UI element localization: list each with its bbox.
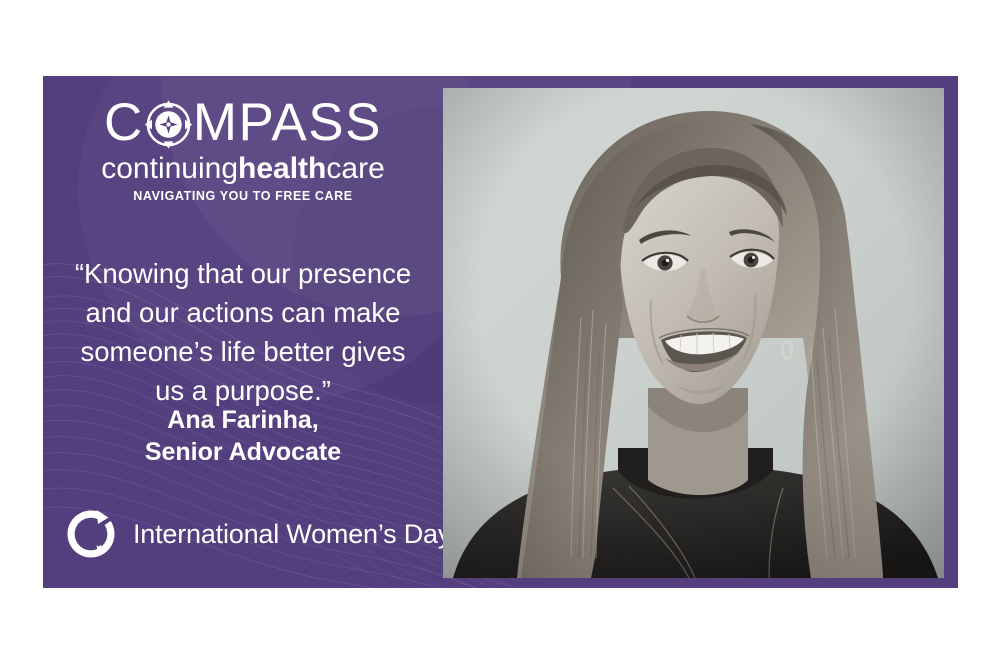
portrait-illustration: [443, 88, 944, 578]
compass-icon: [144, 98, 193, 151]
compass-wordmark: C MPASS: [104, 96, 382, 150]
purple-card: C MPASS continuinghealthcare NAVIGATING …: [43, 76, 958, 588]
logo-tagline: NAVIGATING YOU TO FREE CARE: [43, 189, 443, 203]
attribution-name: Ana Farinha,: [57, 404, 429, 436]
quote-line: someone’s life better gives: [57, 332, 429, 371]
quote-line: “Knowing that our presence: [57, 254, 429, 293]
iwd-label: International Women’s Day: [133, 519, 451, 550]
quote-line: and our actions can make: [57, 293, 429, 332]
compass-logo: C MPASS continuinghealthcare NAVIGATING …: [43, 96, 443, 203]
quote-text: “Knowing that our presence and our actio…: [57, 254, 429, 410]
logo-subtitle-health: health: [238, 152, 326, 185]
attribution-role: Senior Advocate: [57, 436, 429, 468]
compass-o-slot: [144, 97, 193, 150]
logo-subtitle: continuinghealthcare: [43, 152, 443, 186]
left-content-column: C MPASS continuinghealthcare NAVIGATING …: [43, 76, 443, 588]
logo-subtitle-continuing: continuing: [101, 152, 238, 185]
wordmark-letters-mpass: MPASS: [193, 93, 382, 152]
poster-canvas: C MPASS continuinghealthcare NAVIGATING …: [0, 0, 1000, 667]
iwd-circle-arrow-icon: [65, 508, 117, 560]
portrait-photo: [443, 88, 944, 578]
international-womens-day-lockup: International Women’s Day: [65, 508, 451, 560]
logo-subtitle-care: care: [326, 152, 384, 185]
wordmark-letter-c: C: [104, 93, 144, 152]
quote-attribution: Ana Farinha, Senior Advocate: [57, 404, 429, 468]
